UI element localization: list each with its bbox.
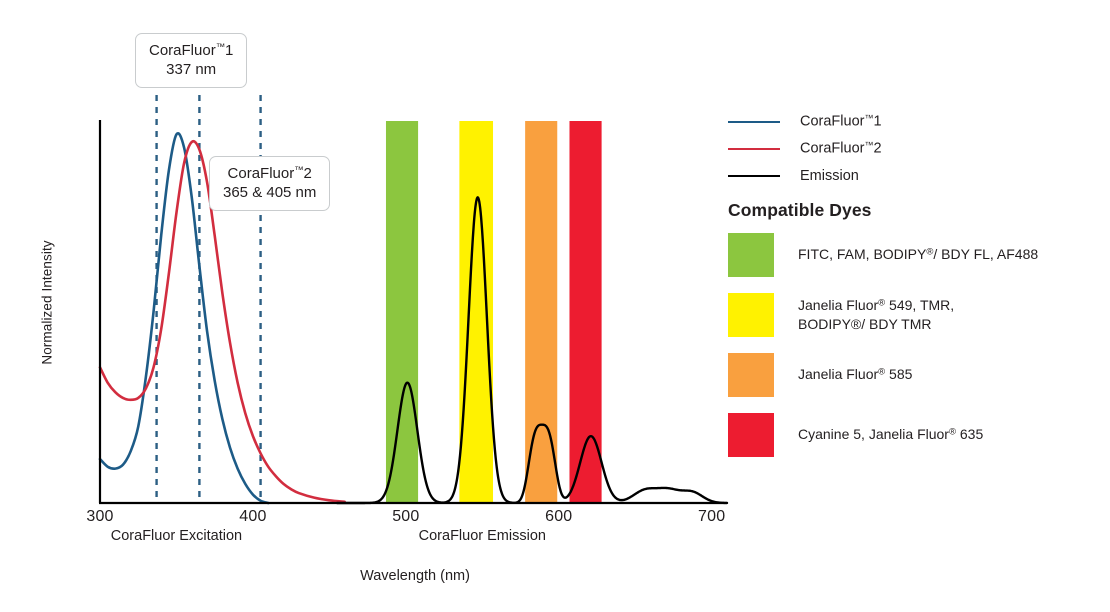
plot-area: Normalized Intensity 300 400 500 600 700… bbox=[0, 0, 740, 612]
x-tick-700: 700 bbox=[682, 508, 742, 526]
excitation-region-label: CoraFluor Excitation bbox=[101, 528, 251, 544]
legend-emission-swatch bbox=[728, 175, 780, 177]
dye-row-1: FITC, FAM, BODIPY®/ BDY FL, AF488 bbox=[728, 233, 1110, 277]
x-tick-400: 400 bbox=[223, 508, 283, 526]
callout-corafluor-1: CoraFluor™1 337 nm bbox=[135, 33, 247, 88]
emission-region-label: CoraFluor Emission bbox=[407, 528, 557, 544]
x-axis-title: Wavelength (nm) bbox=[325, 568, 505, 584]
green-band bbox=[386, 121, 418, 503]
legend-emission-label: Emission bbox=[800, 168, 859, 184]
legend-corafluor-1-swatch bbox=[728, 121, 780, 123]
callout-2-line2: 365 & 405 nm bbox=[223, 183, 316, 202]
dye-row-3: Janelia Fluor® 585 bbox=[728, 353, 1110, 397]
legend-corafluor-1-label: CoraFluor™1 bbox=[800, 113, 882, 130]
compatible-dyes-list: FITC, FAM, BODIPY®/ BDY FL, AF488Janelia… bbox=[728, 233, 1110, 473]
dye-swatch-4 bbox=[728, 413, 774, 457]
dye-row-4: Cyanine 5, Janelia Fluor® 635 bbox=[728, 413, 1110, 457]
yellow-band bbox=[459, 121, 493, 503]
dye-row-2: Janelia Fluor® 549, TMR,BODIPY®/ BDY TMR bbox=[728, 293, 1110, 337]
y-axis-title: Normalized Intensity bbox=[40, 223, 55, 383]
callout-2-line1: CoraFluor™2 bbox=[228, 165, 312, 182]
dye-label-2: Janelia Fluor® 549, TMR,BODIPY®/ BDY TMR bbox=[798, 296, 954, 335]
dye-label-3: Janelia Fluor® 585 bbox=[798, 365, 912, 384]
x-tick-300: 300 bbox=[70, 508, 130, 526]
legend-corafluor-2-label: CoraFluor™2 bbox=[800, 140, 882, 157]
series-legend: CoraFluor™1CoraFluor™2Emission bbox=[728, 108, 1110, 189]
spectra-figure: Normalized Intensity 300 400 500 600 700… bbox=[0, 0, 1110, 612]
callout-corafluor-2: CoraFluor™2 365 & 405 nm bbox=[209, 156, 330, 211]
dye-swatch-3 bbox=[728, 353, 774, 397]
dye-label-3-line1: Janelia Fluor® 585 bbox=[798, 366, 912, 382]
callout-1-line1: CoraFluor™1 bbox=[149, 42, 233, 59]
legend-corafluor-2: CoraFluor™2 bbox=[728, 135, 1110, 162]
legend-emission: Emission bbox=[728, 162, 1110, 189]
dye-label-1: FITC, FAM, BODIPY®/ BDY FL, AF488 bbox=[798, 245, 1038, 264]
dye-label-1-line1: FITC, FAM, BODIPY®/ BDY FL, AF488 bbox=[798, 246, 1038, 262]
dye-label-4: Cyanine 5, Janelia Fluor® 635 bbox=[798, 425, 983, 444]
x-tick-600: 600 bbox=[529, 508, 589, 526]
callout-1-line2: 337 nm bbox=[149, 60, 233, 79]
dye-swatch-1 bbox=[728, 233, 774, 277]
dye-label-2-line2: BODIPY®/ BDY TMR bbox=[798, 315, 954, 334]
legend-corafluor-2-swatch bbox=[728, 148, 780, 150]
dye-label-4-line1: Cyanine 5, Janelia Fluor® 635 bbox=[798, 426, 983, 442]
legend-corafluor-1: CoraFluor™1 bbox=[728, 108, 1110, 135]
compatible-dyes-title: Compatible Dyes bbox=[728, 200, 871, 221]
dye-swatch-2 bbox=[728, 293, 774, 337]
dye-label-2-line1: Janelia Fluor® 549, TMR, bbox=[798, 297, 954, 313]
x-tick-500: 500 bbox=[376, 508, 436, 526]
